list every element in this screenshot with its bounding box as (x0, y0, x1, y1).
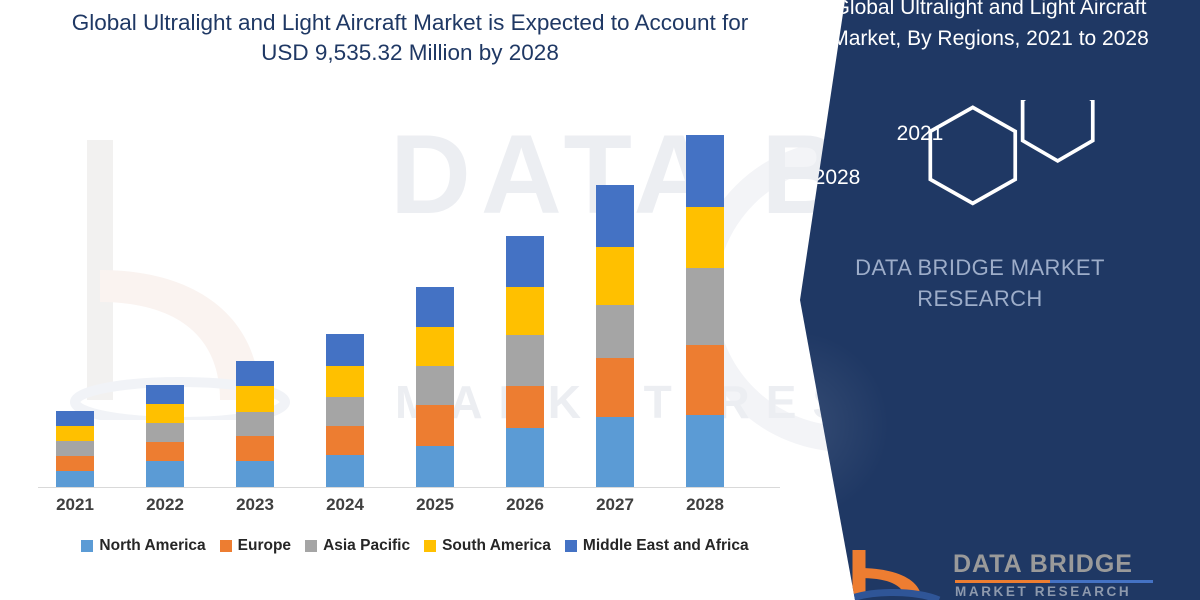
bar-segment-europe[interactable] (596, 358, 634, 417)
x-axis-label-2027: 2027 (575, 495, 655, 515)
x-axis-label-2023: 2023 (215, 495, 295, 515)
legend-swatch-icon (424, 540, 436, 552)
bar-segment-europe[interactable] (686, 345, 724, 415)
legend-label: Europe (238, 537, 291, 555)
logo-rule (955, 580, 1153, 583)
legend-swatch-icon (565, 540, 577, 552)
bar-segment-asia-pacific[interactable] (506, 335, 544, 386)
bar-segment-north-america[interactable] (416, 446, 454, 487)
bar-segment-europe[interactable] (416, 405, 454, 446)
chart-legend: North AmericaEuropeAsia PacificSouth Ame… (30, 537, 800, 555)
bar-2023[interactable] (236, 361, 274, 487)
hexagon-2021-icon (1023, 100, 1093, 161)
bar-2028[interactable] (686, 135, 724, 487)
x-axis-label-2022: 2022 (125, 495, 205, 515)
bar-segment-north-america[interactable] (596, 417, 634, 487)
bar-2026[interactable] (506, 236, 544, 487)
bridge-b-mark-icon (845, 548, 941, 600)
legend-label: North America (99, 537, 205, 555)
bar-2022[interactable] (146, 385, 184, 487)
bar-segment-middle-east-and-africa[interactable] (56, 411, 94, 426)
bar-segment-south-america[interactable] (686, 207, 724, 268)
legend-label: South America (442, 537, 551, 555)
bar-segment-north-america[interactable] (506, 428, 544, 487)
legend-item-middle-east-and-africa[interactable]: Middle East and Africa (565, 537, 749, 555)
bar-segment-asia-pacific[interactable] (146, 423, 184, 442)
legend-item-south-america[interactable]: South America (424, 537, 551, 555)
logo-wordmark: DATA BRIDGE (953, 550, 1133, 579)
data-bridge-logo: DATA BRIDGE MARKET RESEARCH (845, 548, 1175, 600)
bar-segment-south-america[interactable] (416, 327, 454, 366)
brand-name: DATA BRIDGE MARKET RESEARCH (790, 252, 1170, 314)
bar-segment-asia-pacific[interactable] (56, 441, 94, 456)
legend-swatch-icon (305, 540, 317, 552)
bar-segment-north-america[interactable] (326, 455, 364, 487)
x-axis-label-2028: 2028 (665, 495, 745, 515)
bar-segment-europe[interactable] (56, 456, 94, 471)
right-panel-title: Global Ultralight and Light Aircraft Mar… (820, 0, 1160, 54)
bar-segment-north-america[interactable] (146, 461, 184, 487)
bar-segment-asia-pacific[interactable] (686, 268, 724, 345)
bar-segment-europe[interactable] (236, 436, 274, 461)
bar-segment-middle-east-and-africa[interactable] (506, 236, 544, 287)
bar-segment-middle-east-and-africa[interactable] (686, 135, 724, 207)
bar-segment-middle-east-and-africa[interactable] (416, 287, 454, 327)
bar-2024[interactable] (326, 334, 364, 487)
legend-swatch-icon (220, 540, 232, 552)
infographic-root: DATA BRIDGE MARKET RESEARCH Global Ultra… (0, 0, 1200, 600)
bar-segment-europe[interactable] (146, 442, 184, 461)
bar-segment-south-america[interactable] (146, 404, 184, 423)
bar-segment-middle-east-and-africa[interactable] (146, 385, 184, 404)
bar-segment-europe[interactable] (326, 426, 364, 455)
x-axis-label-2025: 2025 (395, 495, 475, 515)
x-axis-label-2024: 2024 (305, 495, 385, 515)
bar-2021[interactable] (56, 411, 94, 487)
x-axis-labels: 20212022202320242025202620272028 (30, 495, 790, 523)
x-axis-line (38, 487, 780, 488)
hexagon-2021-label: 2021 (872, 122, 968, 146)
legend-label: Asia Pacific (323, 537, 410, 555)
bar-segment-europe[interactable] (506, 386, 544, 428)
bar-segment-north-america[interactable] (686, 415, 724, 487)
logo-subtitle: MARKET RESEARCH (955, 584, 1131, 599)
x-axis-label-2026: 2026 (485, 495, 565, 515)
bar-segment-middle-east-and-africa[interactable] (236, 361, 274, 386)
bar-segment-south-america[interactable] (506, 287, 544, 335)
bar-segment-asia-pacific[interactable] (326, 397, 364, 426)
bar-segment-asia-pacific[interactable] (416, 366, 454, 405)
chart-title: Global Ultralight and Light Aircraft Mar… (60, 8, 760, 68)
bar-2025[interactable] (416, 287, 454, 487)
bar-segment-asia-pacific[interactable] (236, 412, 274, 436)
bar-segment-middle-east-and-africa[interactable] (596, 185, 634, 247)
bar-segment-south-america[interactable] (596, 247, 634, 305)
legend-label: Middle East and Africa (583, 537, 749, 555)
bar-segment-asia-pacific[interactable] (596, 305, 634, 358)
stacked-bar-chart (30, 90, 790, 490)
legend-item-north-america[interactable]: North America (81, 537, 205, 555)
bar-segment-south-america[interactable] (326, 366, 364, 397)
bar-segment-north-america[interactable] (236, 461, 274, 487)
bar-segment-south-america[interactable] (56, 426, 94, 441)
legend-swatch-icon (81, 540, 93, 552)
chart-panel: Global Ultralight and Light Aircraft Mar… (0, 0, 830, 600)
legend-item-asia-pacific[interactable]: Asia Pacific (305, 537, 410, 555)
bar-2027[interactable] (596, 185, 634, 487)
legend-item-europe[interactable]: Europe (220, 537, 291, 555)
bar-segment-middle-east-and-africa[interactable] (326, 334, 364, 366)
hexagon-pair-icon (910, 100, 1150, 220)
bar-segment-south-america[interactable] (236, 386, 274, 412)
bar-segment-north-america[interactable] (56, 471, 94, 487)
x-axis-label-2021: 2021 (35, 495, 115, 515)
